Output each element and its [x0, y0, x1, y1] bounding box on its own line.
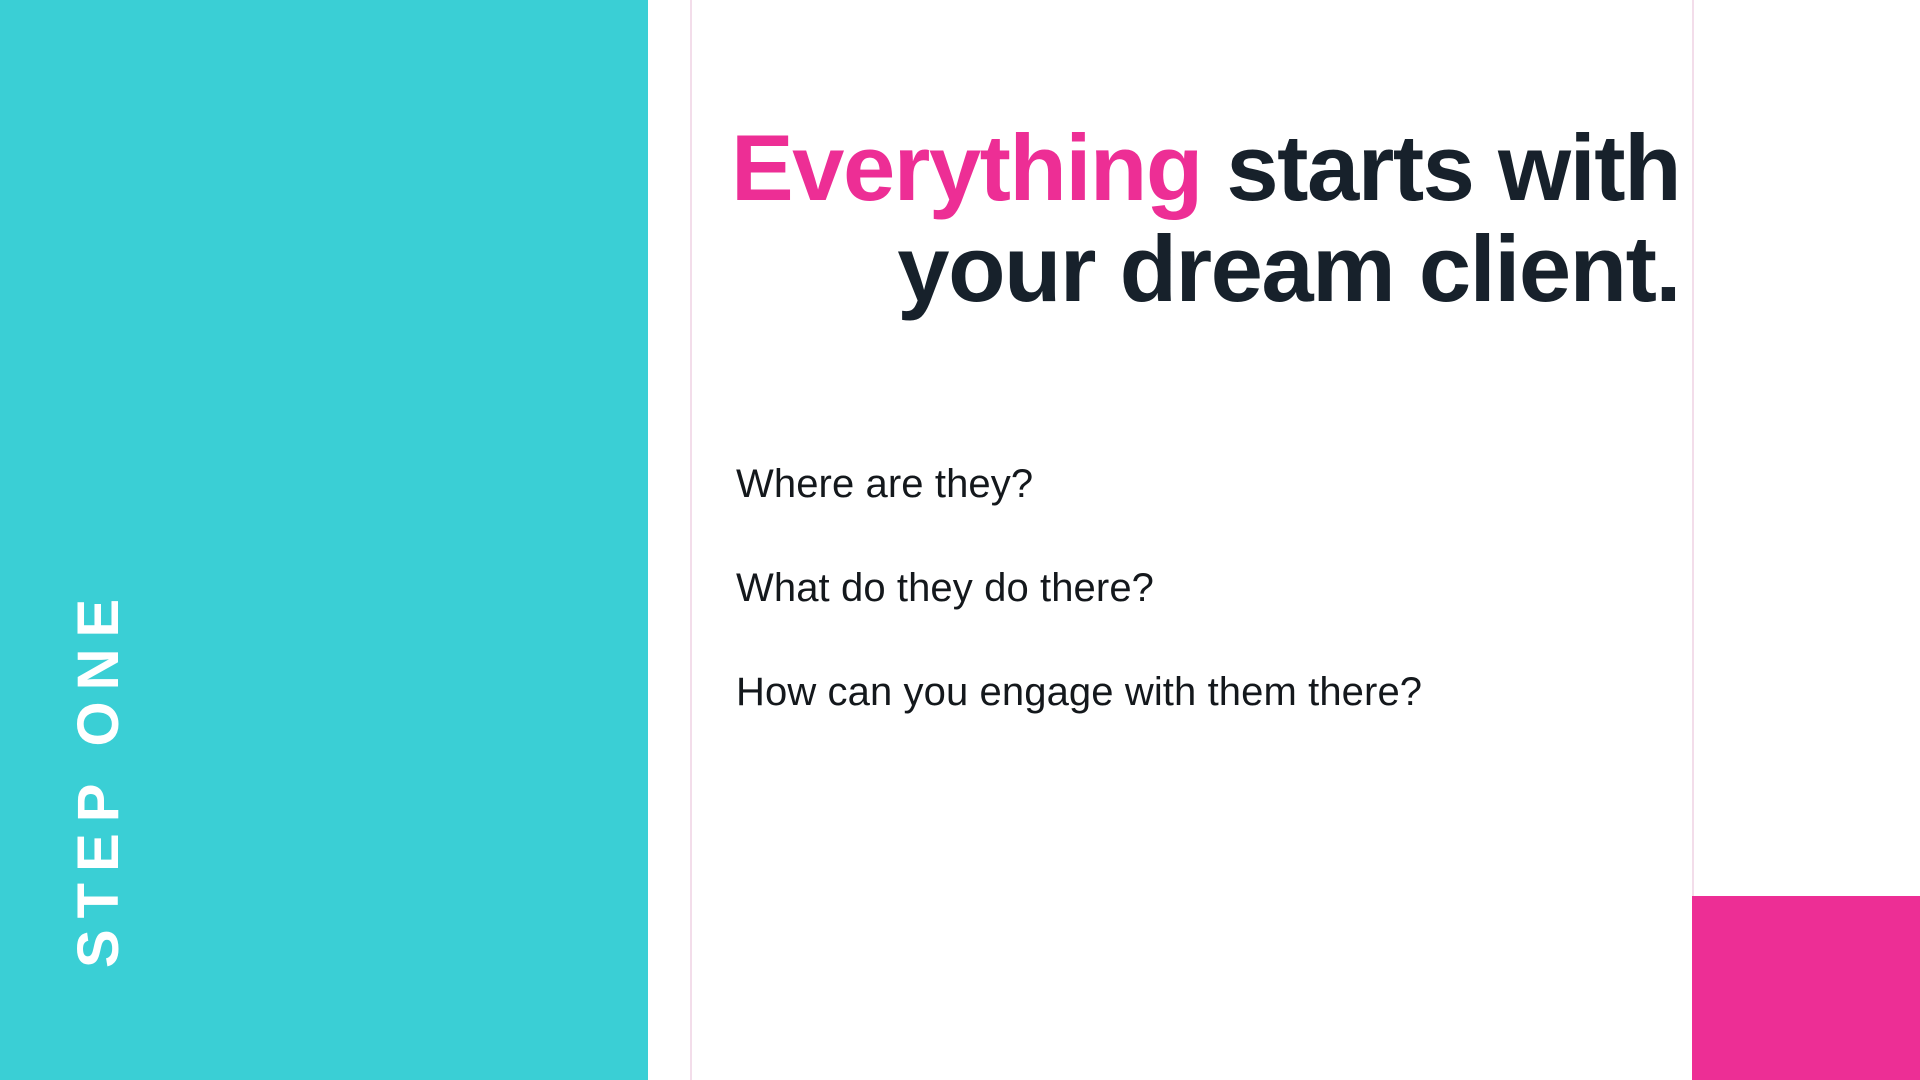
content-column: Everything starts with your dream client… [690, 0, 1692, 1080]
list-item: Where are they? [736, 460, 1666, 508]
left-teal-panel [0, 0, 648, 1080]
list-item: What do they do there? [736, 564, 1666, 612]
list-item: How can you engage with them there? [736, 668, 1666, 716]
pink-accent-block [1692, 896, 1920, 1080]
headline-line-2: your dream client. [690, 219, 1680, 320]
page-title: Everything starts with your dream client… [690, 118, 1692, 319]
slide-canvas: STEP ONE Everything starts with your dre… [0, 0, 1920, 1080]
headline-line-1: Everything starts with [570, 118, 1680, 219]
bullet-list: Where are they? What do they do there? H… [736, 460, 1666, 716]
headline-line-1-rest: starts with [1202, 115, 1680, 220]
headline-accent-word: Everything [731, 115, 1202, 220]
